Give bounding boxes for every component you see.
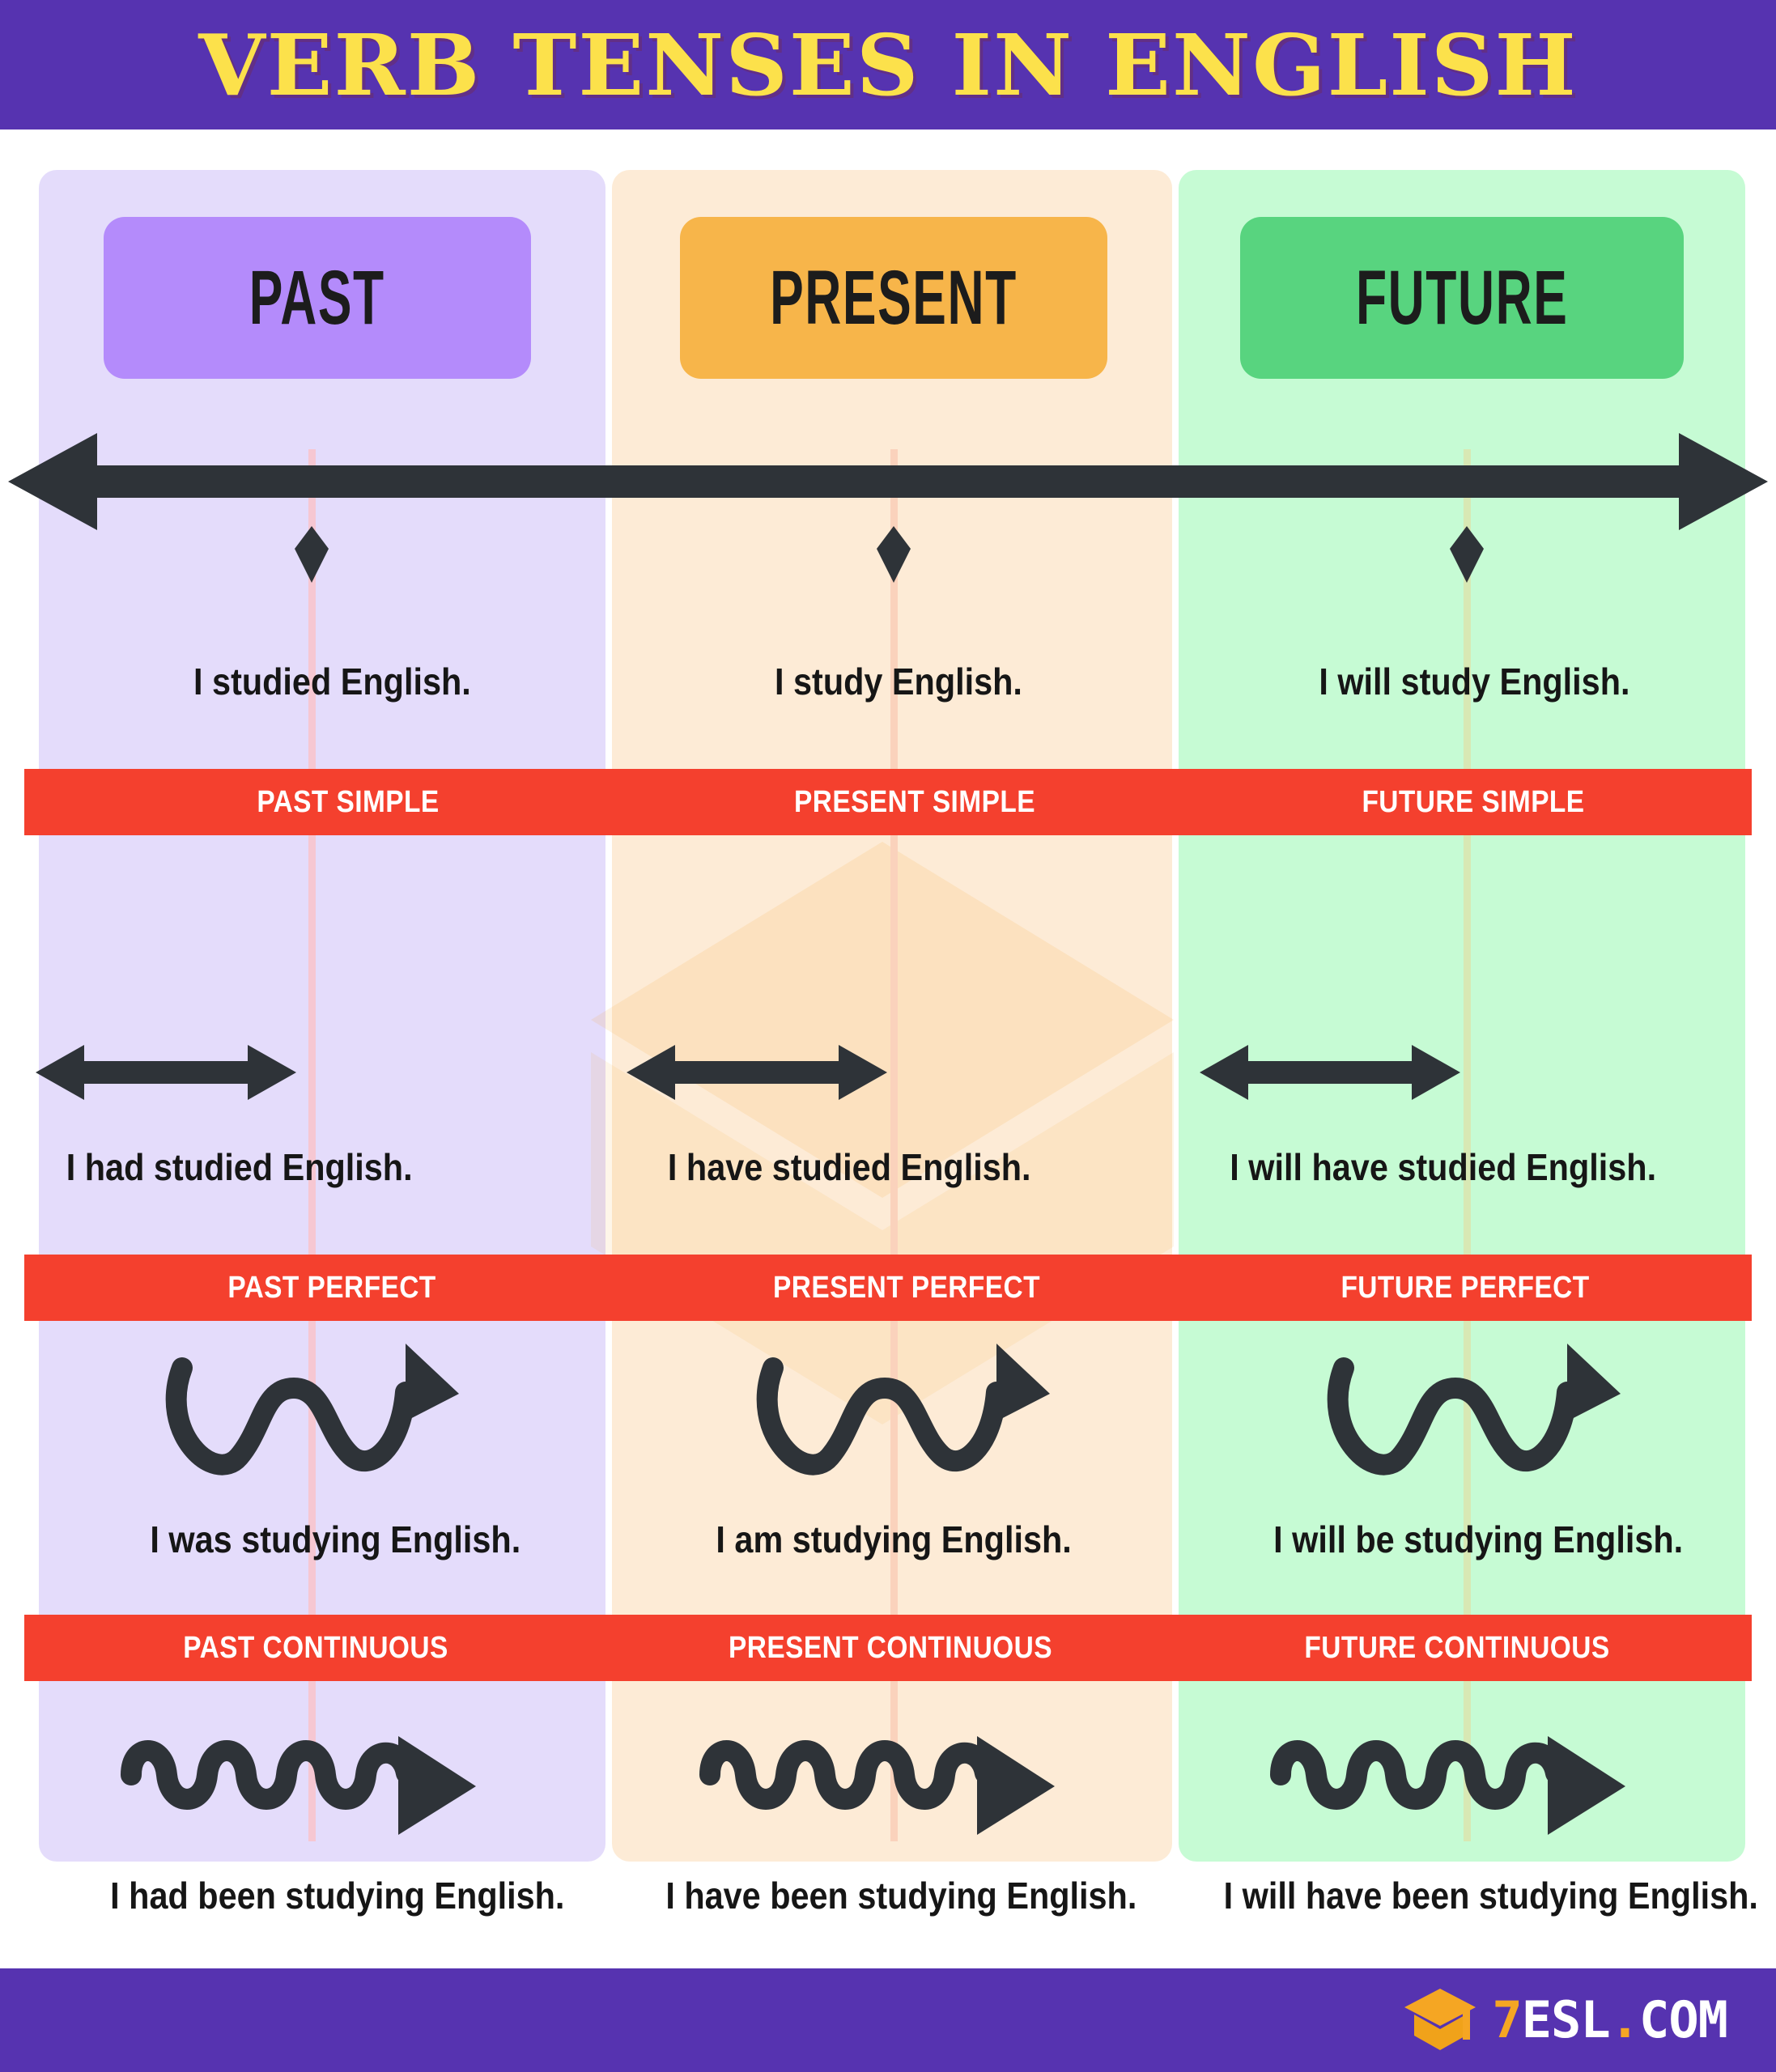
label-future-perfect: FUTURE PERFECT [1244, 1271, 1686, 1306]
site-logo[interactable]: 7ESL.COM [1403, 1985, 1727, 2055]
label-past-continuous: PAST CONTINUOUS [102, 1631, 529, 1666]
column-header-label-past: PAST [249, 254, 385, 342]
label-past-perfect: PAST PERFECT [133, 1271, 532, 1306]
sentence-past-continuous: I was studying English. [150, 1518, 520, 1561]
sentence-future-perfect: I will have studied English. [1230, 1145, 1656, 1189]
sentence-present-simple: I study English. [775, 660, 1022, 703]
sentence-past-simple: I studied English. [193, 660, 471, 703]
dense-wavy-arrow-icon-past [113, 1728, 502, 1841]
sentence-present-perfect: I have studied English. [668, 1145, 1031, 1189]
column-header-past: PAST [104, 217, 531, 379]
label-bar-perfect: PAST PERFECT PRESENT PERFECT FUTURE PERF… [24, 1255, 1752, 1321]
wavy-arrow-icon-present [749, 1344, 1056, 1489]
label-present-continuous: PRESENT CONTINUOUS [656, 1631, 1126, 1666]
label-past-simple: PAST SIMPLE [149, 785, 548, 820]
label-future-continuous: FUTURE CONTINUOUS [1229, 1631, 1685, 1666]
diamond-marker-icon-past [295, 526, 329, 583]
column-header-label-future: FUTURE [1356, 254, 1568, 342]
footer-bar: 7ESL.COM [0, 1968, 1776, 2072]
double-arrow-span-icon-future [1196, 1040, 1464, 1105]
timeline-markers [0, 526, 1776, 583]
wavy-arrow-icon-future [1319, 1344, 1627, 1489]
column-header-present: PRESENT [680, 217, 1107, 379]
dense-wavy-arrow-icon-present [692, 1728, 1081, 1841]
label-future-simple: FUTURE SIMPLE [1252, 785, 1694, 820]
header-bar: VERB TENSES IN ENGLISH [0, 0, 1776, 129]
column-panel-future [1179, 170, 1745, 1862]
sentence-future-perfect-continuous: I will have been studying English. [1224, 1874, 1758, 1917]
label-bar-continuous: PAST CONTINUOUS PRESENT CONTINUOUS FUTUR… [24, 1615, 1752, 1681]
infographic-board: PAST PRESENT FUTURE I studied English. I… [0, 129, 1776, 1910]
column-panel-past [39, 170, 605, 1862]
timeline-double-arrow-icon [0, 429, 1776, 534]
label-present-simple: PRESENT SIMPLE [694, 785, 1136, 820]
sentence-future-continuous: I will be studying English. [1273, 1518, 1683, 1561]
logo-com: COM [1639, 1990, 1727, 2049]
sentence-past-perfect: I had studied English. [66, 1145, 413, 1189]
sentence-present-continuous: I am studying English. [716, 1518, 1071, 1561]
graduation-cap-icon [1403, 1985, 1477, 2055]
double-arrow-span-icon-present [623, 1040, 890, 1105]
dense-wavy-arrow-icon-future [1263, 1728, 1651, 1841]
logo-seven: 7 [1492, 1990, 1521, 2049]
logo-dot: . [1610, 1990, 1639, 2049]
label-bar-simple: PAST SIMPLE PRESENT SIMPLE FUTURE SIMPLE [24, 769, 1752, 835]
column-header-future: FUTURE [1240, 217, 1684, 379]
logo-esl: ESL [1522, 1990, 1610, 2049]
sentence-past-perfect-continuous: I had been studying English. [110, 1874, 564, 1917]
page-title: VERB TENSES IN ENGLISH [198, 15, 1578, 115]
double-arrow-span-icon-past [32, 1040, 300, 1105]
label-present-perfect: PRESENT PERFECT [686, 1271, 1128, 1306]
column-header-label-present: PRESENT [770, 254, 1018, 342]
diamond-marker-icon-future [1450, 526, 1484, 583]
sentence-future-simple: I will study English. [1319, 660, 1629, 703]
logo-wordmark: 7ESL.COM [1492, 1995, 1727, 2045]
diamond-marker-icon-present [877, 526, 911, 583]
wavy-arrow-icon-past [158, 1344, 465, 1489]
sentence-present-perfect-continuous: I have been studying English. [665, 1874, 1137, 1917]
